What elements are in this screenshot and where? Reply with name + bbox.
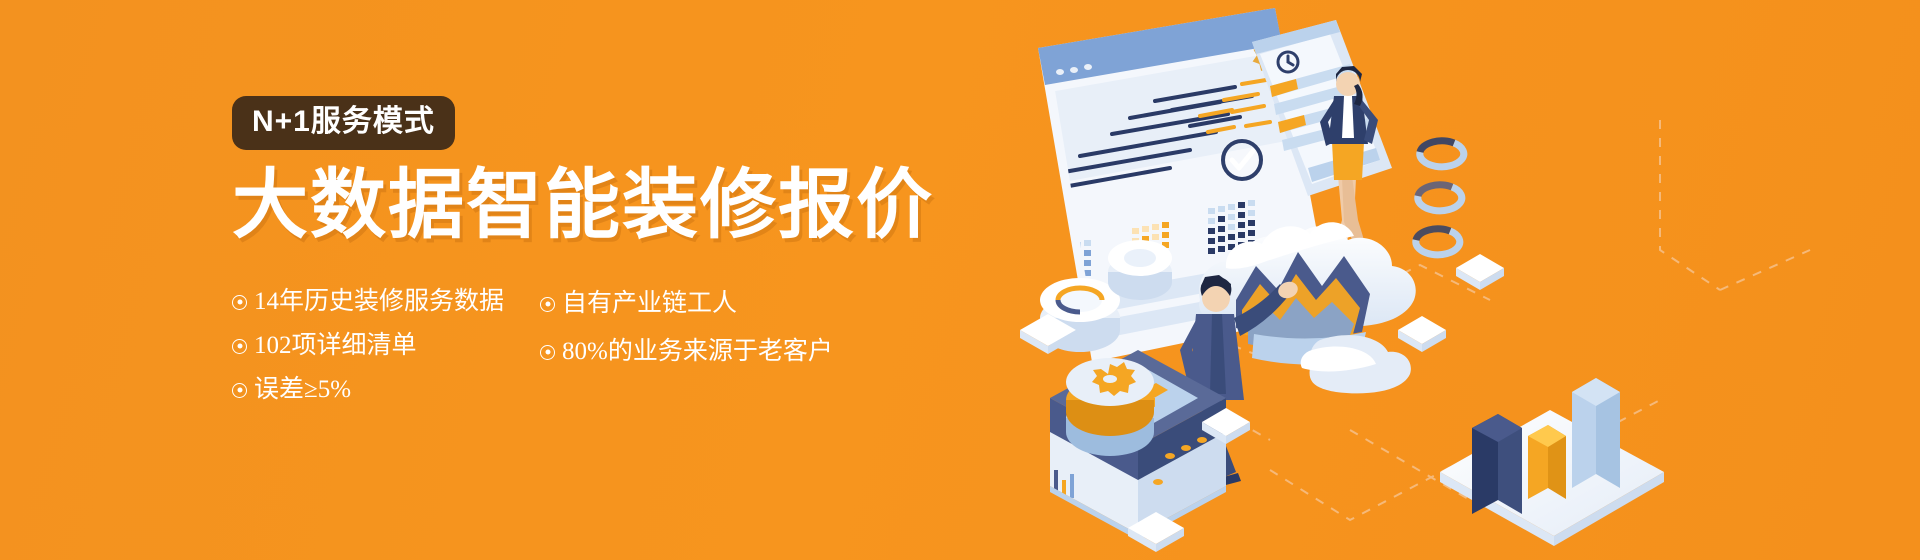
list-item: 80%的业务来源于老客户	[540, 328, 833, 376]
isometric-big-data-scene	[1020, 0, 1920, 560]
list-item-label: 102项详细清单	[254, 333, 417, 358]
list-item-label: 误差≥5%	[254, 377, 351, 402]
circle-dot-icon	[232, 383, 247, 398]
check-badge-icon	[1220, 138, 1264, 182]
list-item: 自有产业链工人	[540, 280, 833, 328]
list-item: 102项详细清单	[232, 324, 504, 368]
list-item: 误差≥5%	[232, 368, 504, 412]
list-item: 14年历史装修服务数据	[232, 280, 504, 324]
ring-segments	[1416, 141, 1464, 255]
circle-dot-icon	[540, 297, 555, 312]
service-model-badge: N+1服务模式	[232, 96, 455, 150]
list-item-label: 80%的业务来源于老客户	[562, 339, 833, 364]
list-item-label: 自有产业链工人	[562, 291, 737, 316]
page-title: 大数据智能装修报价	[232, 168, 934, 244]
cylinder-stack-mid	[1108, 240, 1172, 300]
bullet-column-left: 14年历史装修服务数据 102项详细清单 误差≥5%	[232, 280, 504, 412]
circle-dot-icon	[540, 345, 555, 360]
bar-chart-3d	[1440, 378, 1664, 546]
bullet-column-right: 自有产业链工人 80%的业务来源于老客户	[540, 280, 833, 412]
list-item-label: 14年历史装修服务数据	[254, 289, 504, 314]
circle-dot-icon	[232, 295, 247, 310]
gear-icon-stack	[1066, 358, 1154, 456]
feature-bullets: 14年历史装修服务数据 102项详细清单 误差≥5% 自有产业链工人	[232, 280, 934, 412]
promo-banner: N+1服务模式 大数据智能装修报价 14年历史装修服务数据 102项详细清单 误…	[0, 0, 1920, 560]
circle-dot-icon	[232, 339, 247, 354]
banner-text-block: N+1服务模式 大数据智能装修报价 14年历史装修服务数据 102项详细清单 误…	[232, 96, 934, 412]
